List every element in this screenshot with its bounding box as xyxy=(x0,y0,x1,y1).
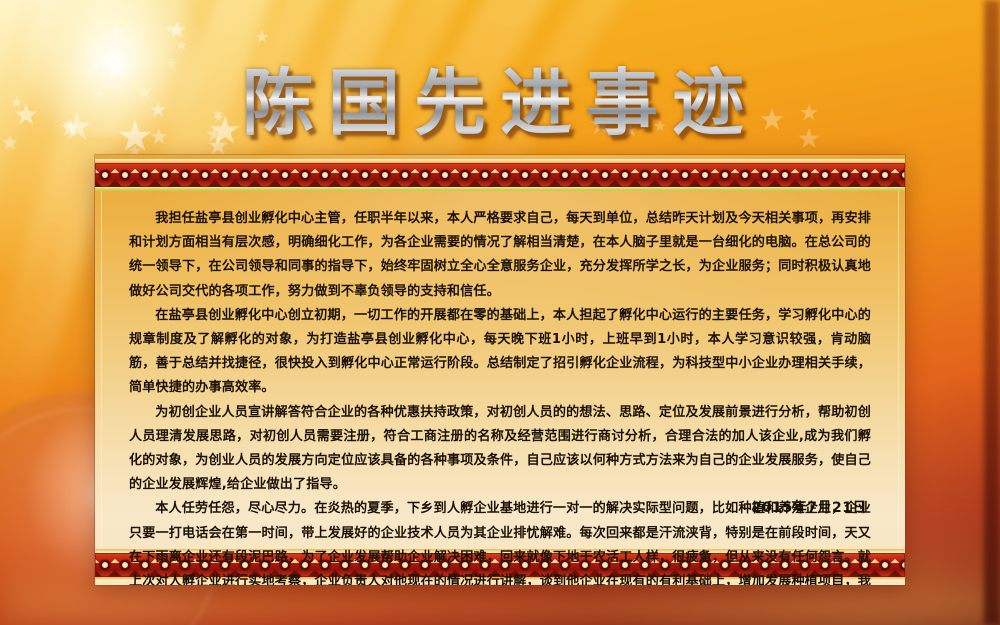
star-decoration xyxy=(110,26,124,40)
ornamental-border-top xyxy=(95,163,905,187)
article-body: 我担任盐亭县创业孵化中心主管，任职半年以来，本人严格要求自己，每天到单位，总结昨… xyxy=(129,207,871,529)
paragraph: 在盐亭县创业孵化中心创立初期，一切工作的开展都在零的基础上，本人担起了孵化中心运… xyxy=(129,304,871,401)
content-panel: 我担任盐亭县创业孵化中心主管，任职半年以来，本人严格要求自己，每天到单位，总结昨… xyxy=(95,155,905,585)
poster-canvas: 陈国先进事迹 我担任盐亭县创业孵化中心主管，任职半年以来，本人严格要求自己，每天… xyxy=(0,0,1000,625)
paragraph: 为初创企业人员宣讲解答符合企业的各种优惠扶持政策，对初创人员的的想法、思路、定位… xyxy=(129,401,871,498)
star-decoration xyxy=(255,30,269,44)
page-title: 陈国先进事迹 xyxy=(0,44,1000,149)
border-highlight-top-inner xyxy=(95,187,905,191)
signature-date: 2015年7月21日 xyxy=(752,497,867,517)
paragraph: 我担任盐亭县创业孵化中心主管，任职半年以来，本人严格要求自己，每天到单位，总结昨… xyxy=(129,207,871,304)
